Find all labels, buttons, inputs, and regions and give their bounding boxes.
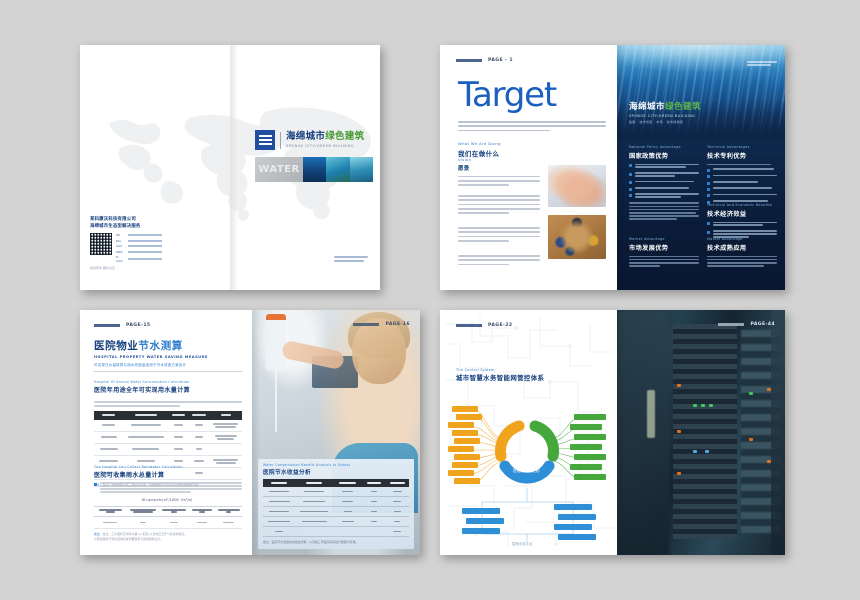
dark-panel-title-en: SPONGE CITY/GREEN BUILDING bbox=[629, 114, 701, 118]
page-number: PAGE - 1 bbox=[488, 58, 513, 63]
th-usage-mode bbox=[124, 411, 168, 420]
table-row bbox=[263, 527, 409, 537]
page-fold bbox=[617, 310, 625, 555]
page-header-right: PAGE-16 bbox=[353, 322, 410, 327]
table2-block: The Hospital Can Collect Rainwater Calcu… bbox=[94, 465, 242, 541]
photo-iv-tube bbox=[275, 370, 277, 432]
page-number: PAGE-16 bbox=[385, 322, 410, 327]
th-remark bbox=[209, 411, 242, 420]
led-indicator bbox=[767, 388, 771, 391]
rainwater-formula: W=φ×ψ×hy×F/1000（m³/a） bbox=[94, 498, 242, 503]
dark-panel-corner-note bbox=[747, 61, 777, 68]
overlay-note: 备注：医院节水改造综合收益测算，以同类三甲医院实际运行数据为基准。 bbox=[263, 540, 409, 544]
hub-ring: 监测感知 分析决策 智能调度与控制 bbox=[500, 426, 553, 478]
page-number: PAGE-15 bbox=[126, 323, 151, 328]
block-cn-label: 技术经济效益 bbox=[707, 209, 777, 218]
table-header-row bbox=[94, 506, 242, 516]
table1-cn-title: 医院年用途全年可实现用水量计算 bbox=[94, 385, 242, 394]
th-volume bbox=[168, 411, 189, 420]
server-blades-main bbox=[673, 324, 737, 539]
table1-en-title: Hospital Of Annual Water Consumption Cal… bbox=[94, 380, 242, 384]
title-rule bbox=[94, 371, 242, 372]
block-cn-label: 技术成熟应用 bbox=[707, 243, 777, 252]
photo-iv-bag bbox=[266, 314, 286, 370]
contact-lines: Tel Fax Add Web E-mail bbox=[116, 233, 162, 263]
diagram-page: PAGE-22 The Control System 城市智慧水务智能网管控体系 bbox=[440, 310, 617, 555]
contact-key: Add bbox=[116, 244, 125, 248]
section-en-label: What We Are Doing bbox=[458, 141, 540, 146]
cover-water-word: WATER bbox=[255, 157, 303, 182]
table-row bbox=[94, 443, 242, 455]
th-unit bbox=[333, 479, 362, 487]
overlay-en-title: Water Conservation Benefit Analysis In S… bbox=[263, 463, 409, 467]
table-header-row bbox=[263, 479, 409, 487]
contact-key: Fax bbox=[116, 239, 125, 243]
vision-body bbox=[458, 176, 540, 186]
page-header-left: PAGE - 1 bbox=[456, 58, 513, 63]
dark-panel-subtitle: 政策 · 技术优势 · 市场 · 技术成熟度 bbox=[629, 120, 701, 124]
spread-hospital: PAGE-15 医院物业节水测算 HOSPITAL PROPERTY WATER… bbox=[80, 310, 420, 555]
table2-note-1: 备注：备注：汇水面积及年降水量 hy 取值·以当地近五年气象资料取值。 bbox=[94, 532, 242, 536]
target-body-block-3 bbox=[458, 227, 540, 244]
table-row bbox=[94, 420, 242, 432]
diagram-title-cn: 城市智慧水务智能网管控体系 bbox=[456, 373, 544, 382]
page-number: PAGE-22 bbox=[488, 323, 513, 328]
page-header-rule bbox=[456, 59, 482, 62]
cover-photo-strip: WATER bbox=[255, 157, 373, 182]
led-indicator bbox=[749, 392, 753, 395]
water-benefit-overlay: Water Conservation Benefit Analysis In S… bbox=[258, 459, 414, 549]
block-en-label: National Policy Advantage bbox=[629, 145, 699, 149]
company-logo-icon bbox=[255, 130, 275, 150]
target-headline: Target bbox=[458, 78, 556, 112]
th-usage-point bbox=[94, 411, 124, 420]
brand-divider bbox=[280, 132, 281, 149]
diagram-footer-label: 智慧水务平台 bbox=[512, 541, 533, 546]
block-en-label: Technical Advantages bbox=[707, 145, 777, 149]
dark-panel-title: 海绵城市绿色建筑 SPONGE CITY/GREEN BUILDING 政策 ·… bbox=[629, 100, 701, 124]
rainwater-table bbox=[94, 506, 242, 529]
table2-cn-title: 医院可收集雨水总量计算 bbox=[94, 470, 242, 479]
target-section-vision: Vision 愿景 bbox=[458, 157, 540, 188]
led-indicator bbox=[693, 450, 697, 453]
table-header-row bbox=[94, 411, 242, 420]
block-cn-label: 国家政策优势 bbox=[629, 151, 699, 160]
table2-note-2: 计算结果用于雨水回用系统调蓄容积与回用规模设计。 bbox=[94, 537, 242, 541]
cover-title-en: SPONGE CITY/GREEN BUILDING bbox=[286, 144, 364, 148]
target-dark-panel: 海绵城市绿色建筑 SPONGE CITY/GREEN BUILDING 政策 ·… bbox=[617, 45, 785, 290]
table-row bbox=[263, 497, 409, 507]
section-en-label: Vision bbox=[458, 157, 540, 162]
target-lead-paragraph bbox=[458, 121, 606, 134]
overlay-cn-title: 医院节水收益分析 bbox=[263, 468, 409, 476]
block-cn-label: 技术专利优势 bbox=[707, 151, 777, 160]
table2-en-title: The Hospital Can Collect Rainwater Calcu… bbox=[94, 465, 242, 469]
led-indicator bbox=[677, 384, 681, 387]
contact-key: Tel bbox=[116, 233, 125, 237]
th-rainfall bbox=[189, 506, 216, 516]
cover-title-cn: 海绵城市绿色建筑 bbox=[286, 132, 364, 142]
th-qty bbox=[362, 479, 385, 487]
hospital-photo-page: PAGE-16 Water Conservation Benefit Analy… bbox=[252, 310, 420, 555]
dark-block-maturity: Market Advantage 技术成熟应用 bbox=[707, 237, 777, 268]
block-en-label: Technical And Economic Benefits bbox=[707, 203, 777, 207]
block-en-label: Market Advantage bbox=[707, 237, 777, 241]
th-coefficient bbox=[159, 506, 189, 516]
table-row bbox=[94, 516, 242, 528]
cover-photo-coast bbox=[326, 157, 349, 182]
cover-footer-note: 版权所有·翻印必究 bbox=[90, 266, 162, 270]
cover-side-note bbox=[334, 256, 368, 264]
table-row bbox=[263, 507, 409, 517]
spread-target: PAGE - 1 Target What We Are Doing 我们在做什么… bbox=[440, 45, 785, 290]
th-runoff bbox=[127, 506, 160, 516]
led-indicator bbox=[767, 460, 771, 463]
orange-branch-chips bbox=[448, 406, 482, 484]
server-light-strip bbox=[647, 390, 655, 438]
table-row bbox=[263, 487, 409, 497]
hospital-title-cn: 医院物业节水测算 bbox=[94, 338, 242, 353]
section-cn-label: 愿景 bbox=[458, 164, 540, 172]
section-cn-label: 我们在做什么 bbox=[458, 148, 540, 158]
contact-key: E-mail bbox=[116, 255, 125, 263]
page-header-right: PAGE-44 bbox=[718, 322, 775, 327]
dark-block-technical: Technical Advantages 技术专利优势 bbox=[707, 145, 777, 206]
page-header-rule bbox=[353, 323, 379, 326]
page-header-rule bbox=[94, 324, 120, 327]
block-cn-label: 市场发展优势 bbox=[629, 243, 699, 252]
hospital-title-en: HOSPITAL PROPERTY WATER SAVING MEASURE bbox=[94, 355, 242, 359]
led-indicator bbox=[749, 438, 753, 441]
cover-photo-lagoon bbox=[350, 157, 373, 182]
control-system-diagram: 监测感知 分析决策 智能调度与控制 bbox=[440, 392, 617, 552]
green-branch-chips bbox=[570, 414, 606, 480]
dark-block-economic: Technical And Economic Benefits 技术经济效益 bbox=[707, 203, 777, 242]
qr-code-icon bbox=[90, 233, 112, 255]
th-share bbox=[189, 411, 210, 420]
target-body-block-2 bbox=[458, 195, 540, 216]
th-collectable bbox=[215, 506, 242, 516]
cover-brand-lockup: 海绵城市绿色建筑 SPONGE CITY/GREEN BUILDING bbox=[255, 130, 370, 150]
hospital-subtitle: 可实现日水量核算与用水改造量适用于节水改造方案设计 bbox=[94, 362, 242, 367]
page-header-rule bbox=[456, 324, 482, 327]
blue-branch-chips bbox=[462, 504, 596, 540]
table-row bbox=[263, 517, 409, 527]
dark-block-market: Market Advantage 市场发展优势 bbox=[629, 237, 699, 268]
led-indicator bbox=[709, 404, 713, 407]
diagram-title-en: The Control System bbox=[456, 368, 544, 372]
hub-label-control: 智能调度与控制 bbox=[513, 468, 540, 473]
benefit-table bbox=[263, 479, 409, 537]
led-indicator bbox=[701, 404, 705, 407]
th-saving bbox=[386, 479, 409, 487]
th-method bbox=[295, 479, 333, 487]
photo-teamwork-hands bbox=[548, 165, 606, 207]
photo-nurse-head bbox=[352, 318, 406, 384]
dark-block-policy: National Policy Advantage 国家政策优势 bbox=[629, 145, 699, 221]
company-name-line-1: 某科康沃科技有限公司 bbox=[90, 217, 162, 224]
mockup-canvas: 海绵城市绿色建筑 SPONGE CITY/GREEN BUILDING WATE… bbox=[0, 0, 860, 600]
page-header-left: PAGE-15 bbox=[94, 323, 151, 328]
server-rack-right bbox=[771, 310, 785, 555]
contact-key: Web bbox=[116, 250, 125, 254]
page-header-left: PAGE-22 bbox=[456, 323, 513, 328]
table-row bbox=[94, 431, 242, 443]
led-indicator bbox=[677, 472, 681, 475]
led-indicator bbox=[693, 404, 697, 407]
page-fold bbox=[252, 310, 260, 555]
led-indicator bbox=[677, 430, 681, 433]
cover-photo-underwater bbox=[303, 157, 326, 182]
spread-system: PAGE-22 The Control System 城市智慧水务智能网管控体系 bbox=[440, 310, 785, 555]
th-catchment bbox=[94, 506, 127, 516]
page-fold bbox=[617, 45, 625, 290]
cover-company-block: 某科康沃科技有限公司 海绵城市生态型解决服务 Tel Fax Add Web E… bbox=[90, 217, 162, 270]
th-item bbox=[263, 479, 295, 487]
target-body-block-4 bbox=[458, 255, 540, 268]
led-indicator bbox=[705, 450, 709, 453]
server-room-photo-page: PAGE-44 bbox=[617, 310, 785, 555]
block-en-label: Market Advantage bbox=[629, 237, 699, 241]
page-number: PAGE-44 bbox=[750, 322, 775, 327]
photo-meeting-table bbox=[548, 215, 606, 259]
hospital-title-block: 医院物业节水测算 HOSPITAL PROPERTY WATER SAVING … bbox=[94, 338, 242, 372]
spread-cover: 海绵城市绿色建筑 SPONGE CITY/GREEN BUILDING WATE… bbox=[80, 45, 380, 290]
page-header-rule bbox=[718, 323, 744, 326]
diagram-title-block: The Control System 城市智慧水务智能网管控体系 bbox=[456, 368, 544, 382]
company-name-line-2: 海绵城市生态型解决服务 bbox=[90, 224, 162, 231]
